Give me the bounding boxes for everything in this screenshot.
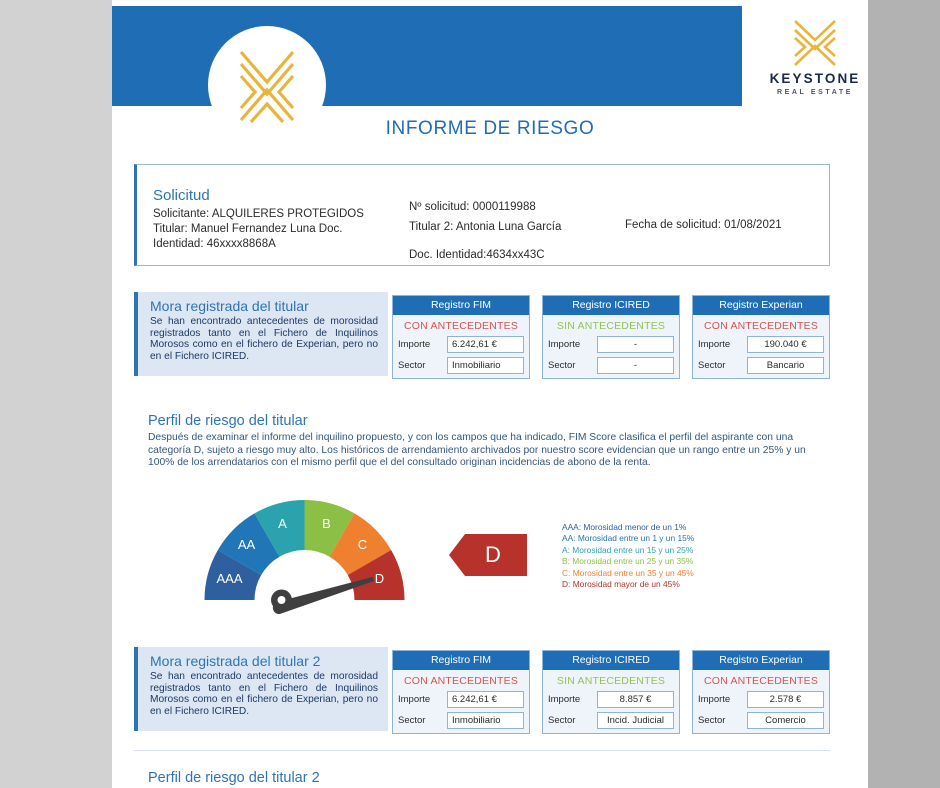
mora-summary: Mora registrada del titular 2 Se han enc… bbox=[134, 647, 388, 731]
registro-sector-label: Sector bbox=[698, 715, 742, 726]
registro-sector-value: Bancario bbox=[747, 357, 824, 374]
request-number: Nº solicitud: 0000119988 bbox=[409, 197, 561, 217]
perfil-title: Perfil de riesgo del titular bbox=[148, 413, 308, 429]
registro-row-importe: Importe - bbox=[543, 336, 679, 357]
brand-subtitle: REAL ESTATE bbox=[762, 89, 868, 96]
mora-title: Mora registrada del titular bbox=[150, 298, 378, 315]
registro-status: CON ANTECEDENTES bbox=[393, 670, 529, 691]
page-title: INFORME DE RIESGO bbox=[112, 118, 868, 140]
registro-sector-label: Sector bbox=[548, 715, 592, 726]
request-applicant: Solicitante: ALQUILERES PROTEGIDOS bbox=[153, 207, 364, 222]
registro-status: SIN ANTECEDENTES bbox=[543, 670, 679, 691]
registro-row-sector: Sector - bbox=[543, 357, 679, 378]
registro-status: CON ANTECEDENTES bbox=[693, 670, 829, 691]
registro-row-importe: Importe 190.040 € bbox=[693, 336, 829, 357]
gauge-label-d: D bbox=[375, 571, 384, 586]
registro-name: Registro ICIRED bbox=[543, 651, 679, 670]
request-date: Fecha de solicitud: 01/08/2021 bbox=[625, 215, 782, 235]
mora-block-holder-2: Mora registrada del titular 2 Se han enc… bbox=[134, 647, 830, 731]
registro-sector-label: Sector bbox=[698, 360, 742, 371]
registro-importe-value: 6.242,61 € bbox=[447, 336, 524, 353]
request-identity: Identidad: 46xxxx8868A bbox=[153, 237, 364, 252]
gauge-label-aaa: AAA bbox=[216, 571, 242, 586]
registro-row-importe: Importe 6.242,61 € bbox=[393, 336, 529, 357]
gauge-label-c: C bbox=[358, 537, 367, 552]
mora-block-holder-1: Mora registrada del titular Se han encon… bbox=[134, 292, 830, 376]
registro-importe-value: - bbox=[597, 336, 674, 353]
registro-sector-label: Sector bbox=[398, 360, 442, 371]
registro-card-icired: Registro ICIRED SIN ANTECEDENTES Importe… bbox=[542, 650, 680, 734]
risk-gauge-chart: AAA AA A B C D bbox=[197, 492, 412, 614]
registro-importe-label: Importe bbox=[548, 339, 592, 350]
gauge-legend: AAA: Morosidad menor de un 1% AA: Morosi… bbox=[562, 522, 792, 590]
registro-importe-value: 190.040 € bbox=[747, 336, 824, 353]
registro-name: Registro Experian bbox=[693, 651, 829, 670]
mora-title: Mora registrada del titular 2 bbox=[150, 653, 378, 670]
registro-row-sector: Sector Inmobiliario bbox=[393, 357, 529, 378]
registro-card-experian: Registro Experian CON ANTECEDENTES Impor… bbox=[692, 650, 830, 734]
registro-row-importe: Importe 6.242,61 € bbox=[393, 691, 529, 712]
request-column-details: Nº solicitud: 0000119988 Titular 2: Anto… bbox=[409, 197, 561, 265]
gauge-hub-center bbox=[278, 596, 286, 604]
legend-item: AAA: Morosidad menor de un 1% bbox=[562, 522, 792, 533]
keystone-x-icon bbox=[237, 48, 297, 124]
keystone-x-icon bbox=[792, 18, 838, 68]
header-band bbox=[112, 6, 742, 106]
registro-importe-label: Importe bbox=[698, 694, 742, 705]
legend-item: D: Morosidad mayor de un 45% bbox=[562, 579, 792, 590]
request-column-applicant: Solicitud Solicitante: ALQUILERES PROTEG… bbox=[153, 187, 364, 252]
registro-name: Registro FIM bbox=[393, 651, 529, 670]
registro-status: SIN ANTECEDENTES bbox=[543, 315, 679, 336]
registro-card-experian: Registro Experian CON ANTECEDENTES Impor… bbox=[692, 295, 830, 379]
gauge-label-a: A bbox=[278, 516, 287, 531]
registro-name: Registro ICIRED bbox=[543, 296, 679, 315]
registro-name: Registro Experian bbox=[693, 296, 829, 315]
registro-importe-value: 8.857 € bbox=[597, 691, 674, 708]
perfil-title-2: Perfil de riesgo del titular 2 bbox=[148, 770, 320, 786]
request-holder: Titular: Manuel Fernandez Luna Doc. bbox=[153, 222, 364, 237]
registro-card-group: Registro FIM CON ANTECEDENTES Importe 6.… bbox=[392, 650, 830, 734]
registro-row-importe: Importe 8.857 € bbox=[543, 691, 679, 712]
mora-description: Se han encontrado antecedentes de morosi… bbox=[150, 316, 378, 362]
registro-importe-value: 2.578 € bbox=[747, 691, 824, 708]
perfil-text: Después de examinar el informe del inqui… bbox=[148, 432, 830, 470]
registro-card-icired: Registro ICIRED SIN ANTECEDENTES Importe… bbox=[542, 295, 680, 379]
registro-importe-label: Importe bbox=[398, 694, 442, 705]
registro-name: Registro FIM bbox=[393, 296, 529, 315]
registro-importe-value: 6.242,61 € bbox=[447, 691, 524, 708]
registro-importe-label: Importe bbox=[698, 339, 742, 350]
gauge-svg: AAA AA A B C D bbox=[197, 492, 412, 614]
request-holder-2: Titular 2: Antonia Luna García bbox=[409, 217, 561, 237]
registro-card-group: Registro FIM CON ANTECEDENTES Importe 6.… bbox=[392, 295, 830, 379]
registro-importe-label: Importe bbox=[548, 694, 592, 705]
brand-logo: KEYSTONE REAL ESTATE bbox=[762, 18, 868, 96]
registro-card-fim: Registro FIM CON ANTECEDENTES Importe 6.… bbox=[392, 295, 530, 379]
registro-sector-value: - bbox=[597, 357, 674, 374]
gauge-label-aa: AA bbox=[238, 537, 256, 552]
registro-sector-value: Inmobiliario bbox=[447, 712, 524, 729]
registro-sector-value: Incid. Judicial bbox=[597, 712, 674, 729]
registro-sector-value: Inmobiliario bbox=[447, 357, 524, 374]
registro-importe-label: Importe bbox=[398, 339, 442, 350]
registro-sector-label: Sector bbox=[398, 715, 442, 726]
legend-item: AA: Morosidad entre un 1 y un 15% bbox=[562, 533, 792, 544]
request-doc-identity-2: Doc. Identidad:4634xx43C bbox=[409, 245, 561, 265]
request-panel: Solicitud Solicitante: ALQUILERES PROTEG… bbox=[134, 164, 830, 266]
registro-row-sector: Sector Comercio bbox=[693, 712, 829, 733]
registro-row-sector: Sector Inmobiliario bbox=[393, 712, 529, 733]
mora-description: Se han encontrado antecedentes de morosi… bbox=[150, 671, 378, 717]
registro-sector-label: Sector bbox=[548, 360, 592, 371]
risk-grade-letter: D bbox=[449, 534, 527, 576]
request-column-date: Fecha de solicitud: 01/08/2021 bbox=[625, 215, 782, 235]
gauge-label-b: B bbox=[322, 516, 331, 531]
registro-row-sector: Sector Bancario bbox=[693, 357, 829, 378]
registro-sector-value: Comercio bbox=[747, 712, 824, 729]
legend-item: A: Morosidad entre un 15 y un 25% bbox=[562, 545, 792, 556]
legend-item: B: Morosidad entre un 25 y un 35% bbox=[562, 556, 792, 567]
registro-card-fim: Registro FIM CON ANTECEDENTES Importe 6.… bbox=[392, 650, 530, 734]
report-page: INFORME DE RIESGO KEYSTONE REAL ESTATE S… bbox=[112, 0, 868, 788]
registro-status: CON ANTECEDENTES bbox=[693, 315, 829, 336]
brand-name: KEYSTONE bbox=[762, 72, 868, 86]
registro-row-sector: Sector Incid. Judicial bbox=[543, 712, 679, 733]
registro-row-importe: Importe 2.578 € bbox=[693, 691, 829, 712]
request-heading: Solicitud bbox=[153, 187, 364, 204]
risk-grade-badge: D bbox=[449, 534, 527, 576]
legend-item: C: Morosidad entre un 35 y un 45% bbox=[562, 568, 792, 579]
mora-summary: Mora registrada del titular Se han encon… bbox=[134, 292, 388, 376]
registro-status: CON ANTECEDENTES bbox=[393, 315, 529, 336]
